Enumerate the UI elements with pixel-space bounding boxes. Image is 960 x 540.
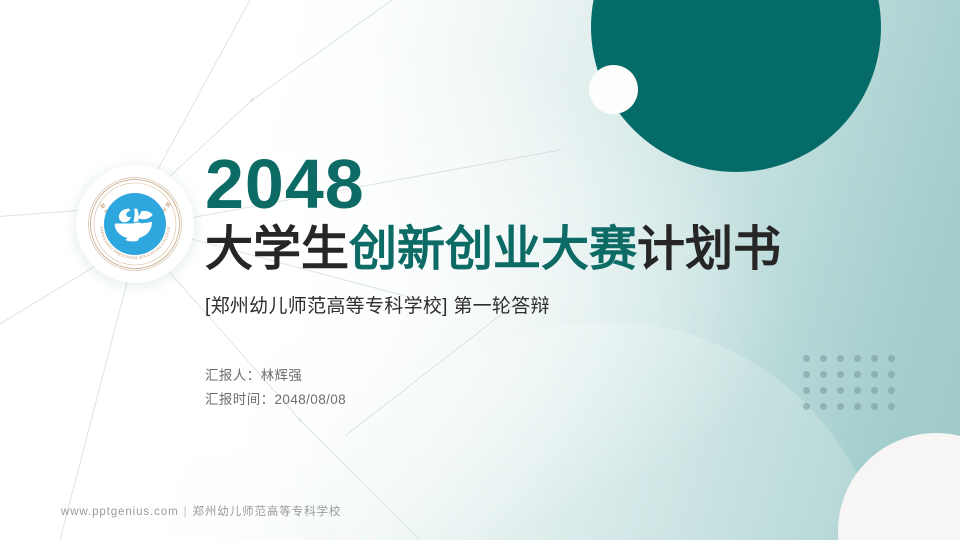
footer: www.pptgenius.com|郑州幼儿师范高等专科学校 bbox=[61, 503, 341, 519]
main-headline: 大学生创新创业大赛计划书 bbox=[205, 225, 845, 275]
footer-separator: | bbox=[184, 506, 188, 518]
date-line: 汇报时间：2048/08/08 bbox=[205, 388, 845, 413]
logo-emblem-icon: 郑州幼儿师范高等专科学校 ZHENGZHOU PRESCHOOL EDUCATI… bbox=[89, 178, 181, 270]
presentation-cover-slide: 郑州幼儿师范高等专科学校 ZHENGZHOU PRESCHOOL EDUCATI… bbox=[0, 0, 960, 540]
presenter-line: 汇报人：林辉强 bbox=[205, 364, 845, 389]
footer-organization: 郑州幼儿师范高等专科学校 bbox=[192, 506, 341, 518]
footer-website[interactable]: www.pptgenius.com bbox=[61, 506, 179, 518]
school-logo: 郑州幼儿师范高等专科学校 ZHENGZHOU PRESCHOOL EDUCATI… bbox=[76, 165, 194, 283]
headline-lead: 大学生 bbox=[205, 223, 349, 276]
presentation-meta: 汇报人：林辉强 汇报时间：2048/08/08 bbox=[205, 364, 845, 413]
white-accent-circle-small bbox=[589, 65, 638, 114]
year-heading: 2048 bbox=[205, 150, 845, 219]
headline-tail: 计划书 bbox=[637, 223, 781, 276]
subtitle: [郑州幼儿师范高等专科学校] 第一轮答辩 bbox=[205, 291, 845, 318]
logo-seal: 郑州幼儿师范高等专科学校 ZHENGZHOU PRESCHOOL EDUCATI… bbox=[88, 177, 182, 271]
headline-accent: 创新创业大赛 bbox=[349, 223, 637, 276]
title-block: 2048 大学生创新创业大赛计划书 [郑州幼儿师范高等专科学校] 第一轮答辩 汇… bbox=[205, 150, 845, 413]
